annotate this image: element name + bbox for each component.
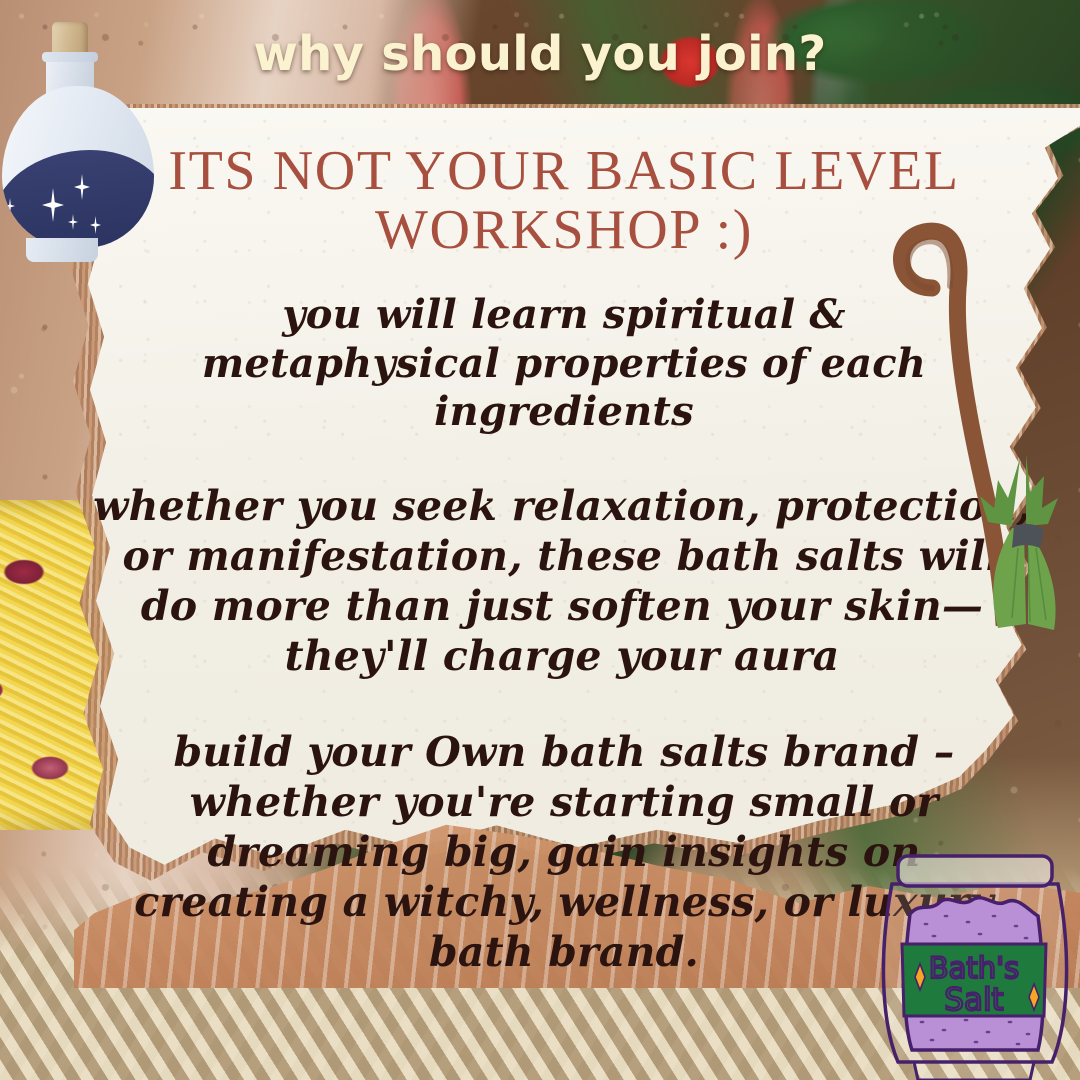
- potion-neck-ring: [42, 52, 98, 62]
- herb-bundle-icon: [968, 452, 1080, 632]
- banner-title: why should you join?: [254, 26, 827, 82]
- bath-salt-jar-icon: Bath's Salt: [868, 838, 1080, 1080]
- potion-liquid: [2, 150, 154, 248]
- potion-base: [26, 238, 98, 262]
- potion-cork: [52, 22, 88, 56]
- jar-label-line1: Bath's: [929, 951, 1020, 985]
- poster-canvas: why should you join? ITS NOT YOUR BASIC …: [0, 0, 1080, 1080]
- potion-bottle-icon: [2, 22, 164, 270]
- potion-body: [2, 86, 154, 248]
- jar-label-line2: Salt: [944, 982, 1003, 1018]
